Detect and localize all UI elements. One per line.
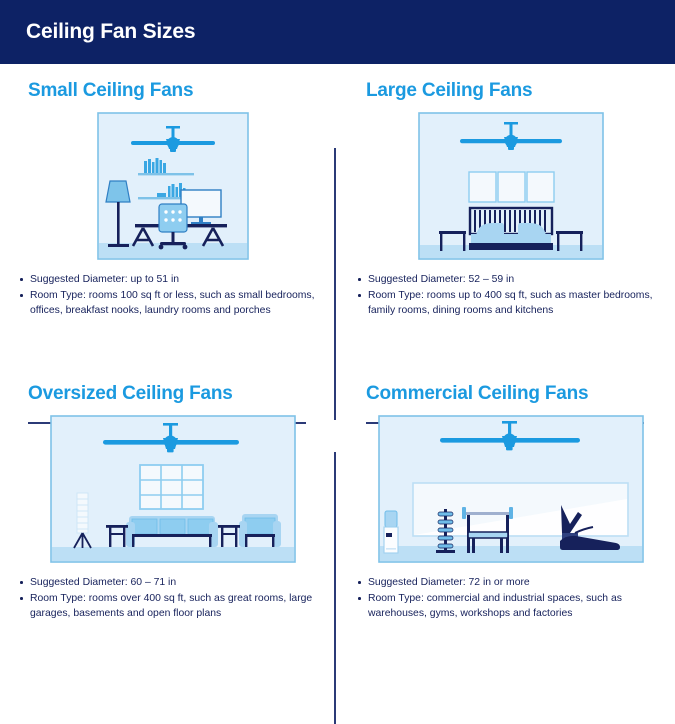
illustration-commercial-wrap [352, 415, 670, 563]
bullet-list-large: Suggested Diameter: 52 – 59 in Room Type… [352, 272, 670, 318]
section-title-commercial: Commercial Ceiling Fans [366, 383, 670, 405]
living-room-icon [50, 415, 296, 563]
section-large: Large Ceiling Fans [352, 80, 670, 319]
page-title: Ceiling Fan Sizes [26, 20, 195, 44]
vertical-divider-bottom [334, 452, 336, 724]
infographic-page: Ceiling Fan Sizes Small Ceiling Fans [0, 0, 675, 675]
section-commercial: Commercial Ceiling Fans [352, 383, 670, 622]
bullet-item: Room Type: rooms up to 400 sq ft, such a… [352, 288, 670, 318]
bullet-list-commercial: Suggested Diameter: 72 in or more Room T… [352, 575, 670, 621]
bullet-item: Suggested Diameter: up to 51 in [14, 272, 332, 287]
illustration-oversized-wrap [14, 415, 332, 563]
gym-room-icon [378, 415, 644, 563]
illustration-small-wrap [14, 112, 332, 260]
bullet-item: Room Type: rooms 100 sq ft or less, such… [14, 288, 332, 318]
bullet-item: Suggested Diameter: 60 – 71 in [14, 575, 332, 590]
bullet-item: Suggested Diameter: 52 – 59 in [352, 272, 670, 287]
bullet-item: Suggested Diameter: 72 in or more [352, 575, 670, 590]
bullet-list-oversized: Suggested Diameter: 60 – 71 in Room Type… [14, 575, 332, 621]
sections-grid: Small Ceiling Fans [0, 64, 675, 675]
bullet-list-small: Suggested Diameter: up to 51 in Room Typ… [14, 272, 332, 318]
section-oversized: Oversized Ceiling Fans [14, 383, 332, 622]
illustration-large-wrap [352, 112, 670, 260]
bedroom-room-icon [418, 112, 604, 260]
section-small: Small Ceiling Fans [14, 80, 332, 319]
section-title-large: Large Ceiling Fans [366, 80, 670, 102]
bullet-item: Room Type: commercial and industrial spa… [352, 591, 670, 621]
section-title-oversized: Oversized Ceiling Fans [28, 383, 332, 405]
home-office-room-icon [97, 112, 249, 260]
bullet-item: Room Type: rooms over 400 sq ft, such as… [14, 591, 332, 621]
vertical-divider-top [334, 148, 336, 420]
page-header: Ceiling Fan Sizes [0, 0, 675, 64]
section-title-small: Small Ceiling Fans [28, 80, 332, 102]
